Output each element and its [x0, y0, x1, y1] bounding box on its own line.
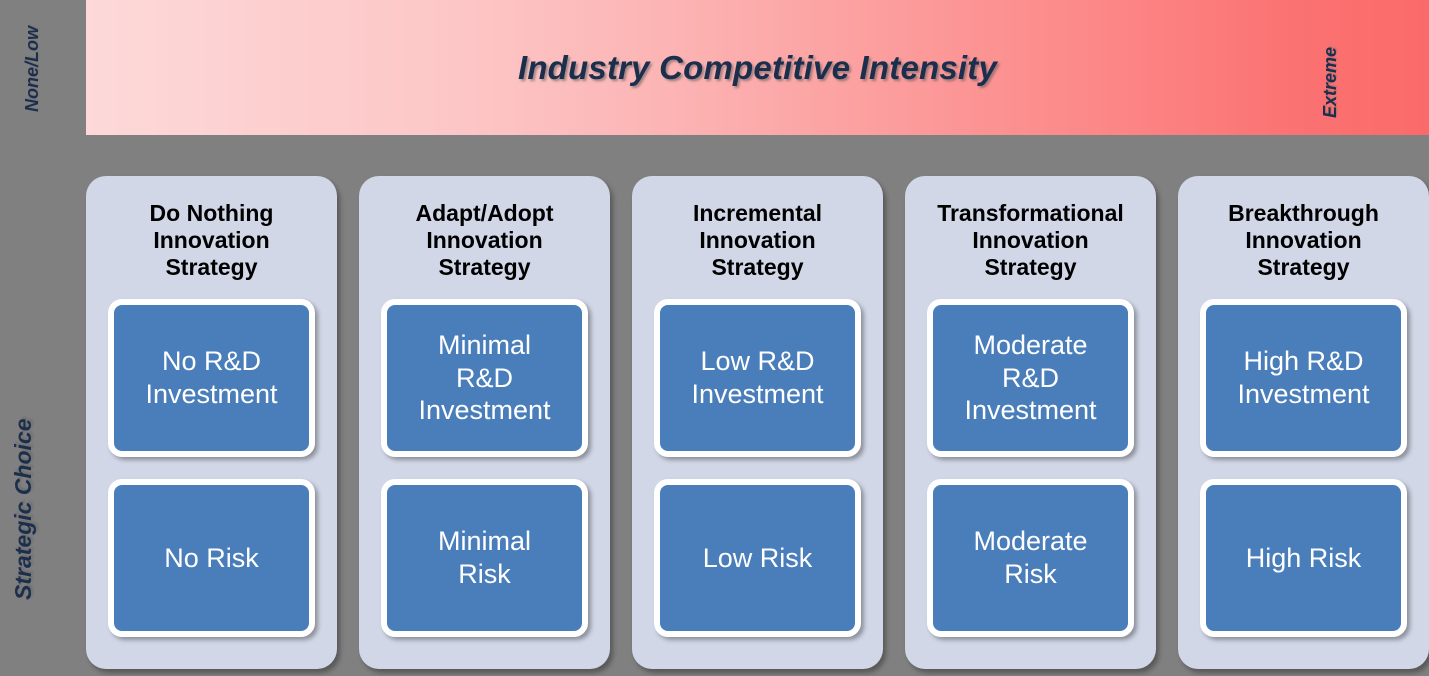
- intensity-bar-title: Industry Competitive Intensity: [86, 0, 1429, 135]
- risk-level-box[interactable]: No Risk: [108, 479, 315, 637]
- column-title: Incremental Innovation Strategy: [654, 200, 861, 281]
- strategy-column-breakthrough[interactable]: Breakthrough Innovation Strategy High R&…: [1178, 176, 1429, 669]
- rd-investment-box[interactable]: Minimal R&D Investment: [381, 299, 588, 457]
- strategy-columns-container: Do Nothing Innovation Strategy No R&D In…: [86, 176, 1429, 676]
- column-title: Breakthrough Innovation Strategy: [1200, 200, 1407, 281]
- strategy-column-incremental[interactable]: Incremental Innovation Strategy Low R&D …: [632, 176, 883, 669]
- risk-level-box[interactable]: High Risk: [1200, 479, 1407, 637]
- risk-level-box[interactable]: Minimal Risk: [381, 479, 588, 637]
- rd-investment-box[interactable]: No R&D Investment: [108, 299, 315, 457]
- strategy-column-do-nothing[interactable]: Do Nothing Innovation Strategy No R&D In…: [86, 176, 337, 669]
- strategy-column-transformational[interactable]: Transformational Innovation Strategy Mod…: [905, 176, 1156, 669]
- rd-investment-box[interactable]: High R&D Investment: [1200, 299, 1407, 457]
- rd-investment-box[interactable]: Low R&D Investment: [654, 299, 861, 457]
- strategic-choice-axis-label: Strategic Choice: [10, 419, 37, 601]
- risk-level-box[interactable]: Moderate Risk: [927, 479, 1134, 637]
- industry-competitive-intensity-bar: Industry Competitive Intensity: [86, 0, 1429, 135]
- column-title: Transformational Innovation Strategy: [927, 200, 1134, 281]
- rd-investment-box[interactable]: Moderate R&D Investment: [927, 299, 1134, 457]
- risk-level-box[interactable]: Low Risk: [654, 479, 861, 637]
- intensity-scale-low-label: None/Low: [22, 26, 43, 112]
- column-title: Adapt/Adopt Innovation Strategy: [381, 200, 588, 281]
- column-title: Do Nothing Innovation Strategy: [108, 200, 315, 281]
- strategy-column-adapt-adopt[interactable]: Adapt/Adopt Innovation Strategy Minimal …: [359, 176, 610, 669]
- intensity-scale-high-label: Extreme: [1320, 47, 1341, 118]
